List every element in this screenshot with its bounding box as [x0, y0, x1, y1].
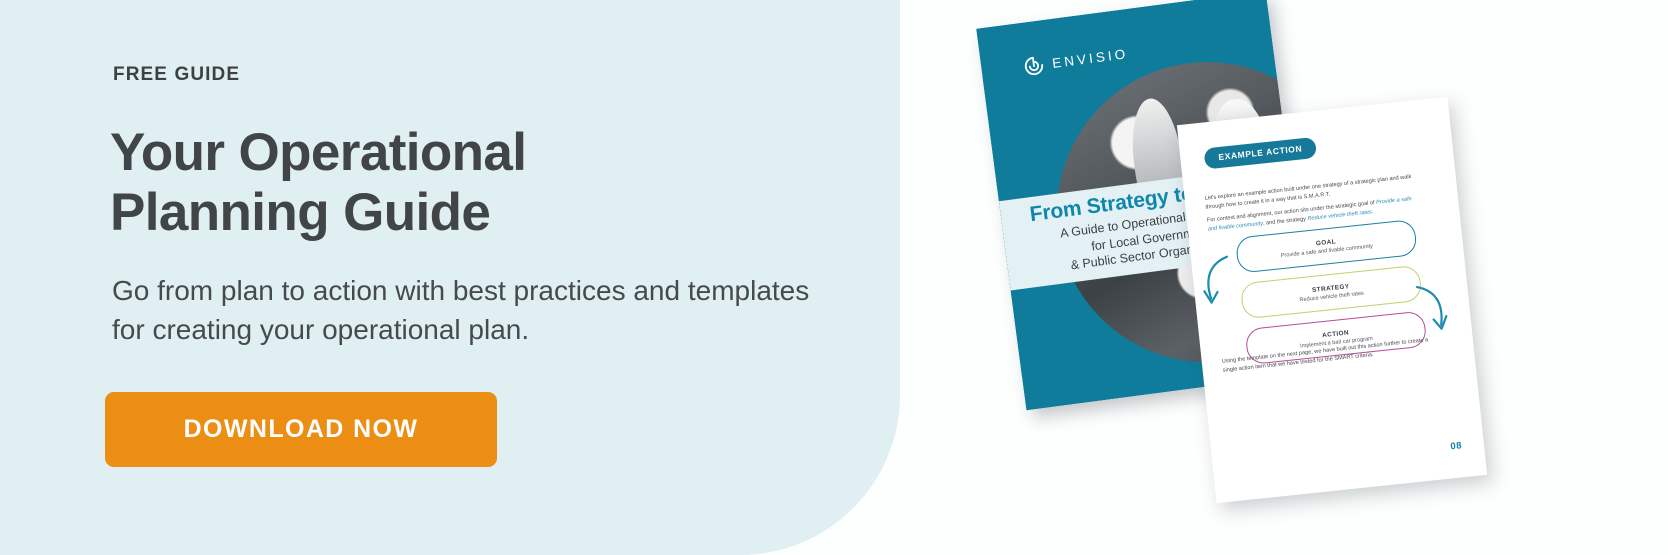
envisio-logo: ENVISIO [1022, 43, 1129, 78]
page-number: 08 [1450, 440, 1463, 452]
flow-arrow-left-icon [1197, 252, 1236, 309]
flow-node-goal-label: GOAL [1316, 238, 1337, 247]
subcopy-text: Go from plan to action with best practic… [112, 272, 812, 349]
eyebrow-label: FREE GUIDE [113, 64, 240, 86]
example-action-badge: EXAMPLE ACTION [1203, 137, 1317, 170]
promo-banner: FREE GUIDE Your Operational Planning Gui… [0, 0, 1668, 555]
guide-inner-page: EXAMPLE ACTION Let's explore an example … [1177, 97, 1487, 503]
flow-node-strategy: STRATEGY Reduce vehicle theft rates [1240, 265, 1423, 320]
guide-artwork: From Strategy to Action A Guide to Opera… [960, 0, 1668, 555]
headline-line-2: Planning Guide [110, 183, 770, 243]
page-title: Your Operational Planning Guide [110, 123, 770, 244]
headline-line-1: Your Operational [110, 123, 770, 183]
paragraph-2-mid: , and the strategy [1263, 216, 1308, 227]
flow-node-strategy-text: Reduce vehicle theft rates [1299, 290, 1364, 303]
flow-arrow-right-icon [1413, 280, 1452, 337]
envisio-swirl-icon [1022, 54, 1046, 78]
promo-panel: FREE GUIDE Your Operational Planning Gui… [0, 0, 900, 555]
download-now-button[interactable]: DOWNLOAD NOW [105, 392, 497, 467]
envisio-wordmark: ENVISIO [1051, 46, 1129, 71]
